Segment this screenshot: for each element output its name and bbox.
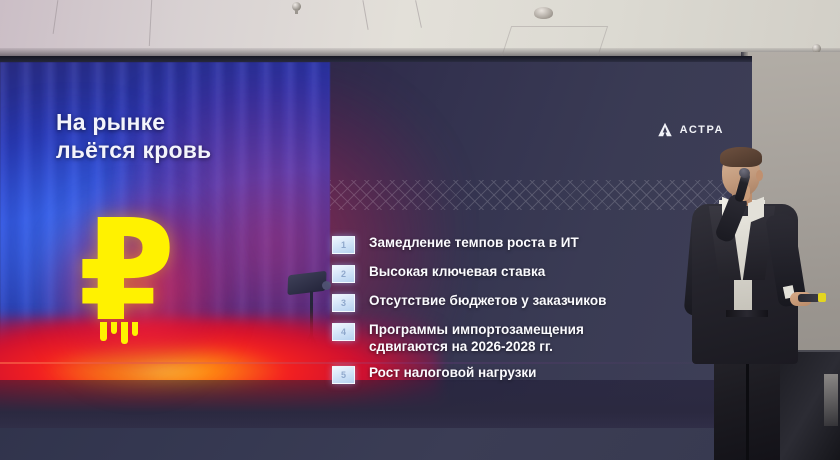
astra-logo-text: АСТРА — [680, 124, 724, 136]
presenter-belt — [726, 310, 768, 317]
bullet-text: Рост налоговой нагрузки — [369, 364, 536, 381]
sprinkler-icon — [292, 2, 301, 11]
slide-title-line-2: льётся кровь — [56, 136, 306, 164]
presentation-clicker — [798, 294, 820, 302]
list-item: 5 Рост налоговой нагрузки — [332, 364, 702, 384]
blood-drip — [100, 322, 107, 341]
bullet-marker: 5 — [332, 366, 355, 384]
blood-drip — [132, 322, 138, 336]
smoke-detector-icon — [534, 7, 553, 19]
slide-bullet-list: 1 Замедление темпов роста в ИТ 2 Высокая… — [332, 234, 702, 393]
blood-drip — [121, 322, 128, 344]
list-item: 1 Замедление темпов роста в ИТ — [332, 234, 702, 254]
bullet-text: Программы импортозамещения сдвигаются на… — [369, 321, 584, 355]
astra-mark-icon — [656, 122, 674, 137]
bullet-marker: 3 — [332, 294, 355, 312]
slide-title-line-1: На рынке — [56, 108, 306, 136]
presentation-slide: На рынке льётся кровь ₽ АСТРА — [0, 62, 752, 428]
projection-screen: На рынке льётся кровь ₽ АСТРА — [0, 56, 752, 460]
presenter-ear — [756, 170, 763, 181]
clicker-tip-icon — [818, 293, 826, 302]
ruble-glyph: ₽ — [78, 218, 198, 346]
bullet-marker: 4 — [332, 323, 355, 341]
bullet-marker: 1 — [332, 236, 355, 254]
bullet-text: Замедление темпов роста в ИТ — [369, 234, 579, 251]
slide-title: На рынке льётся кровь — [56, 108, 306, 164]
blood-drip — [111, 322, 117, 334]
list-item: 4 Программы импортозамещения сдвигаются … — [332, 321, 702, 355]
bullet-text: Отсутствие бюджетов у заказчиков — [369, 292, 606, 309]
astra-logo: АСТРА — [656, 122, 724, 137]
stage-light-lens — [322, 281, 331, 290]
screenshot-frame: На рынке льётся кровь ₽ АСТРА — [0, 0, 840, 460]
bullet-text: Высокая ключевая ставка — [369, 263, 545, 280]
bullet-marker: 2 — [332, 265, 355, 283]
list-item: 3 Отсутствие бюджетов у заказчиков — [332, 292, 702, 312]
ruble-symbol-graphic: ₽ — [78, 218, 198, 368]
presenter-person — [686, 150, 836, 460]
list-item: 2 Высокая ключевая ставка — [332, 263, 702, 283]
presenter-hair — [720, 147, 762, 167]
